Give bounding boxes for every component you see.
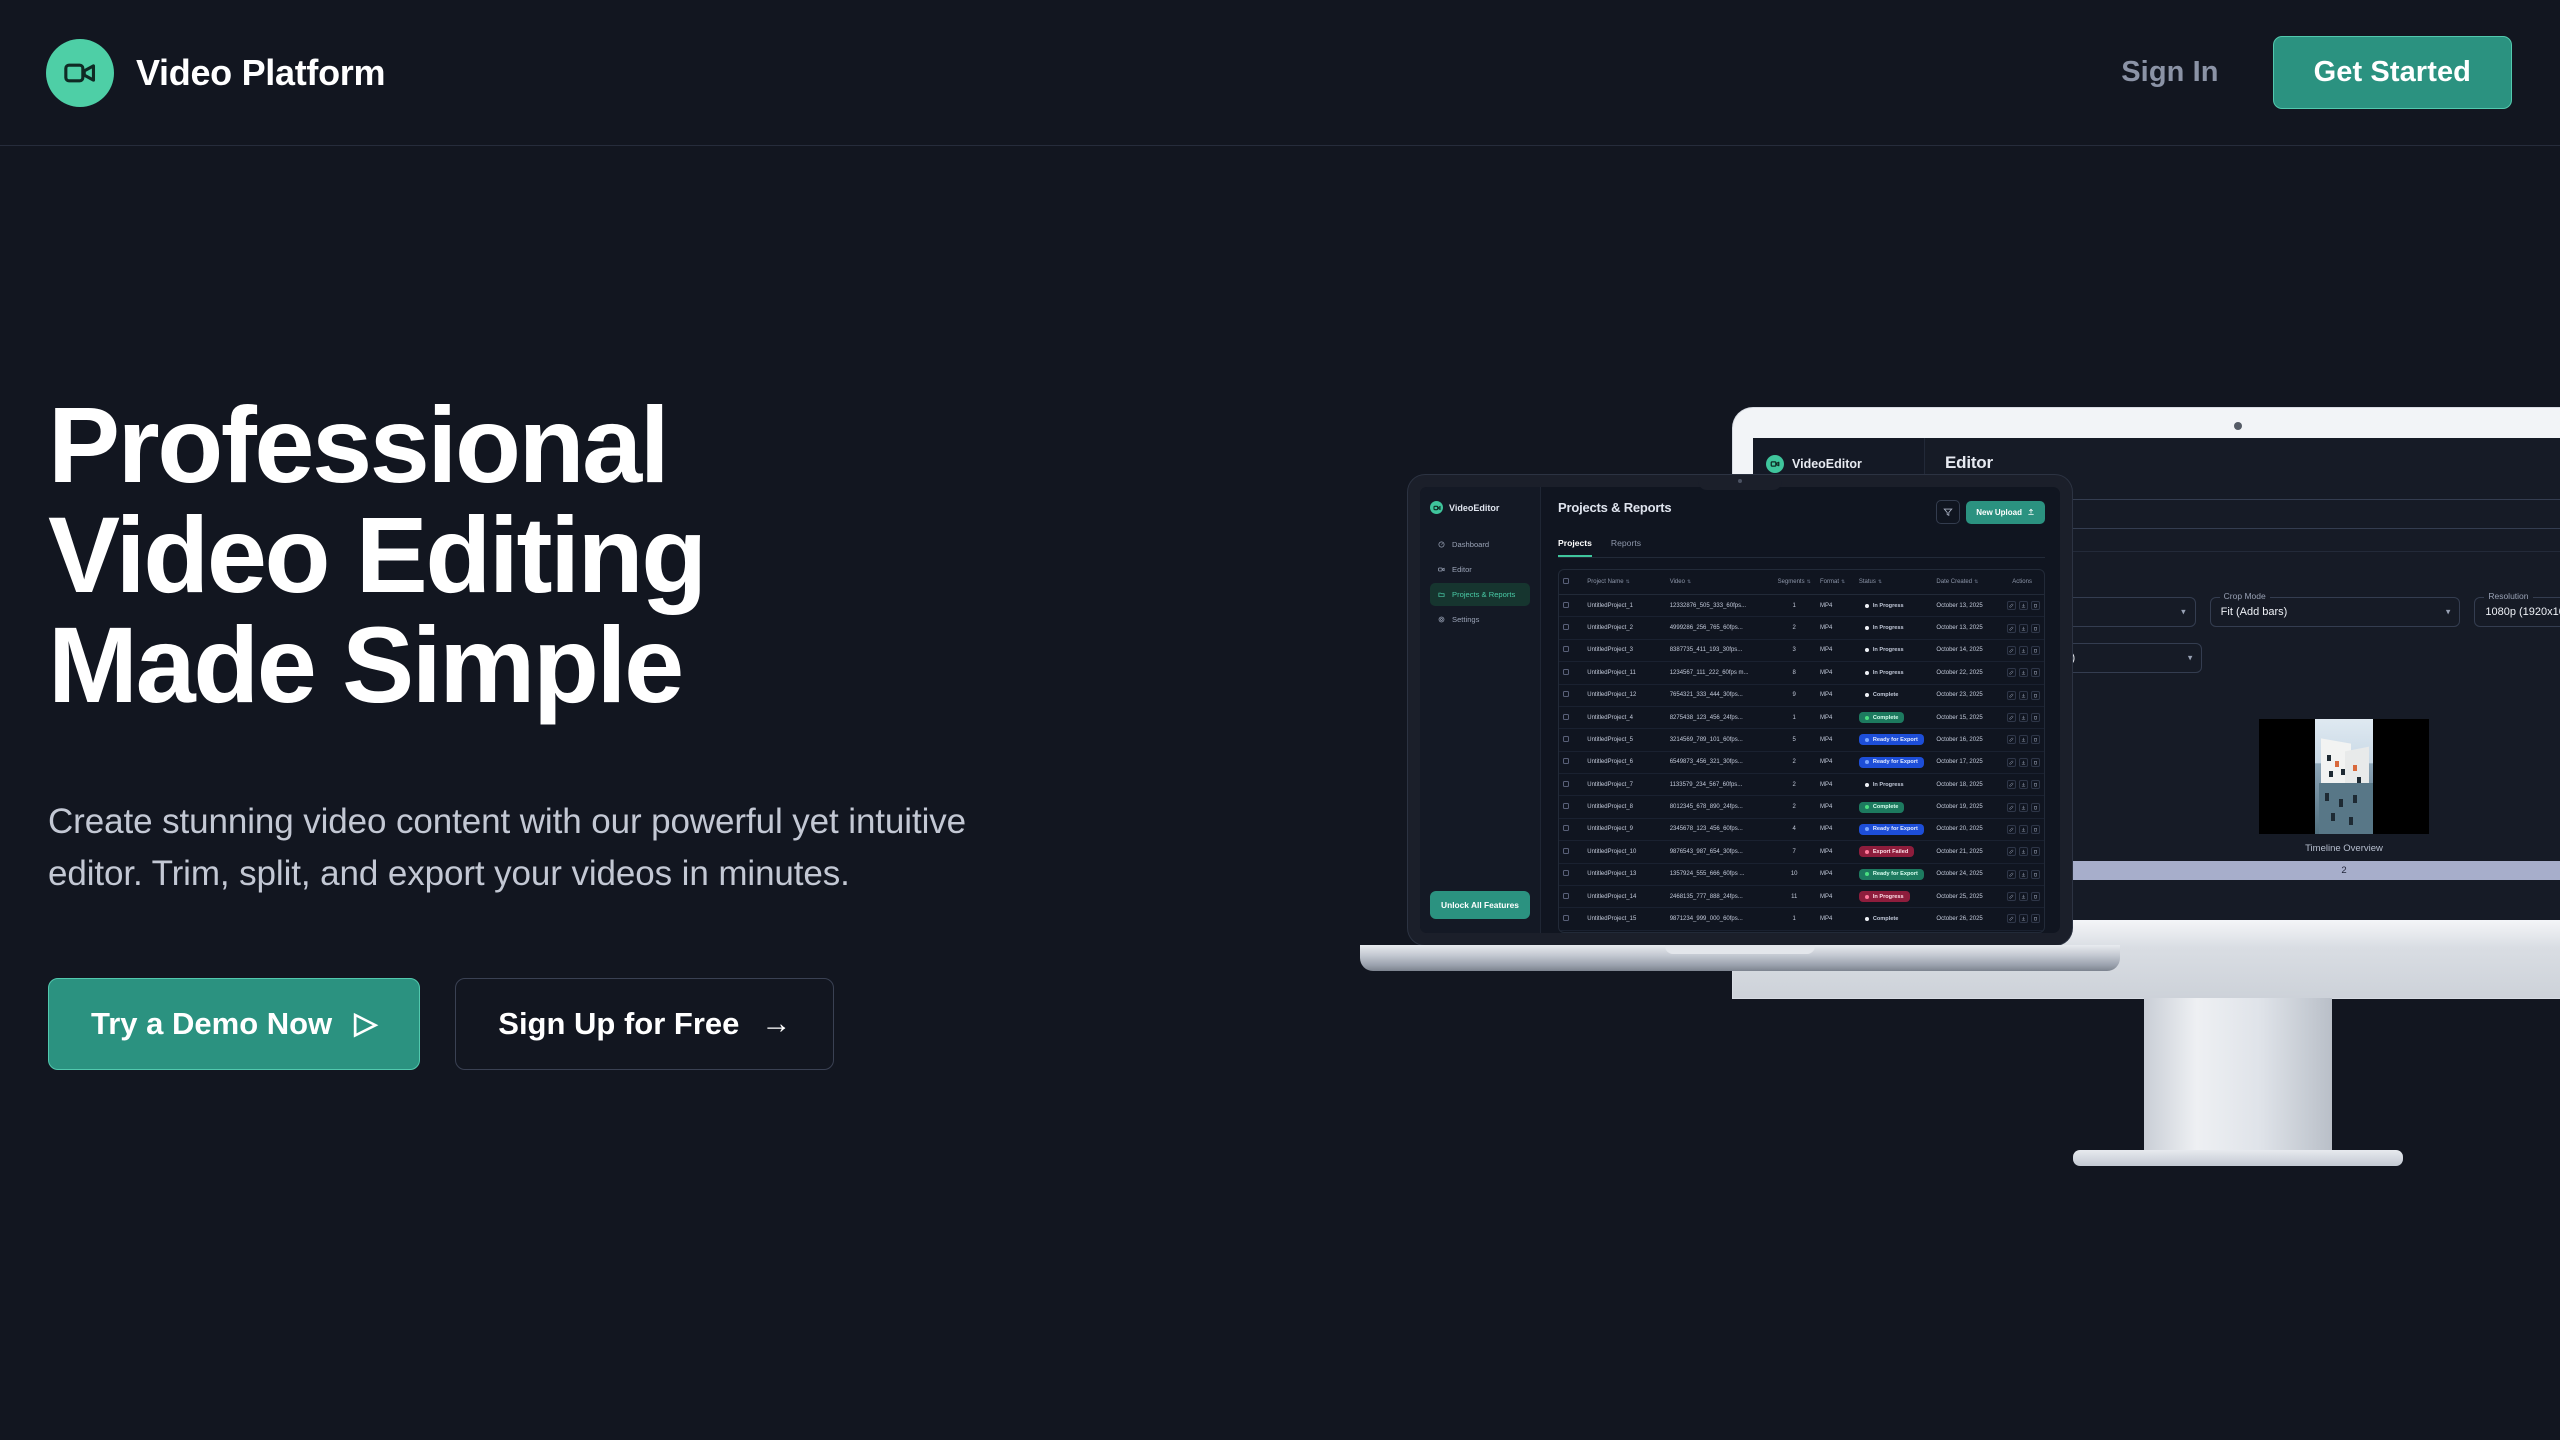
cell-segments: 2 [1772, 796, 1816, 818]
cell-video: 2345678_123_456_60fps... [1666, 818, 1773, 840]
status-dot-icon [1865, 760, 1869, 764]
sort-icon: ⇅ [1974, 579, 1978, 585]
cell-video: 4999286_256_765_60fps... [1666, 617, 1773, 639]
sort-icon: ⇅ [1807, 579, 1811, 585]
cell-status: Ready for Export [1855, 818, 1933, 840]
cell-segments: 10 [1772, 863, 1816, 885]
download-icon[interactable] [2019, 713, 2028, 722]
table-row[interactable]: UntitledProject_38387735_411_193_30fps..… [1559, 639, 2044, 661]
cell-format: MP4 [1816, 841, 1855, 863]
checkbox-icon[interactable] [1563, 578, 1569, 584]
cell-status: In Progress [1855, 639, 1933, 661]
row-checkbox[interactable] [1559, 841, 1583, 863]
delete-icon[interactable] [2031, 624, 2040, 633]
table-row[interactable]: UntitledProject_111234567_111_222_60fps … [1559, 662, 2044, 684]
cell-video: 8012345_678_890_24fps... [1666, 796, 1773, 818]
row-checkbox[interactable] [1559, 662, 1583, 684]
status-dot-icon [1865, 716, 1869, 720]
sidebar-item-dashboard[interactable]: Dashboard [1430, 533, 1530, 556]
delete-icon[interactable] [2031, 713, 2040, 722]
checkbox-icon[interactable] [1563, 781, 1569, 787]
cell-format: MP4 [1816, 617, 1855, 639]
status-dot-icon [1865, 693, 1869, 697]
table-row[interactable]: UntitledProject_24999286_256_765_60fps..… [1559, 617, 2044, 639]
edit-icon[interactable] [2007, 892, 2016, 901]
projects-sidebar: VideoEditor Dashboard Editor [1420, 487, 1541, 933]
gauge-icon [1438, 541, 1445, 548]
table-row[interactable]: UntitledProject_92345678_123_456_60fps..… [1559, 818, 2044, 840]
checkbox-icon[interactable] [1563, 691, 1569, 697]
chevron-down-icon: ▾ [2188, 653, 2193, 664]
delete-icon[interactable] [2031, 758, 2040, 767]
status-badge: In Progress [1859, 779, 1910, 790]
cell-video: 1357924_555_666_60fps ... [1666, 863, 1773, 885]
edit-icon[interactable] [2007, 758, 2016, 767]
table-row[interactable]: UntitledProject_88012345_678_890_24fps..… [1559, 796, 2044, 818]
sidebar-item-editor[interactable]: Editor [1430, 558, 1530, 581]
cell-status: Complete [1855, 796, 1933, 818]
cell-format: MP4 [1816, 930, 1855, 933]
projects-main: Projects & Reports New Upload [1541, 487, 2060, 933]
cell-status: In Progress [1855, 662, 1933, 684]
editor-brand-name: VideoEditor [1792, 457, 1862, 471]
funnel-icon[interactable] [1936, 500, 1960, 524]
cell-date-created: October 14, 2025 [1932, 639, 2000, 661]
table-row[interactable]: UntitledProject_71133579_234_567_60fps..… [1559, 774, 2044, 796]
row-checkbox[interactable] [1559, 595, 1583, 617]
cell-segments: 1 [1772, 908, 1816, 930]
status-dot-icon [1865, 872, 1869, 876]
header-actions: Sign In Get Started [2121, 36, 2512, 109]
cell-date-created: October 24, 2025 [1932, 863, 2000, 885]
status-label: In Progress [1873, 625, 1904, 631]
cell-video: 7654321_333_444_30fps... [1666, 684, 1773, 706]
row-checkbox[interactable] [1559, 639, 1583, 661]
video-camera-icon [1766, 455, 1784, 473]
video-camera-icon [46, 39, 114, 107]
delete-icon[interactable] [2031, 870, 2040, 879]
status-badge: Complete [1859, 690, 1905, 701]
status-label: Ready for Export [1873, 759, 1918, 765]
delete-icon[interactable] [2031, 914, 2040, 923]
projects-brand-name: VideoEditor [1449, 503, 1499, 513]
download-icon[interactable] [2019, 892, 2028, 901]
cell-date-created: October 19, 2025 [1932, 796, 2000, 818]
chevron-down-icon: ▾ [2181, 607, 2186, 618]
laptop-base-notch [1665, 945, 1815, 954]
projects-brand: VideoEditor [1430, 501, 1530, 514]
cell-actions [2000, 751, 2044, 773]
status-badge: Complete [1859, 712, 1905, 723]
cell-format: MP4 [1816, 863, 1855, 885]
status-dot-icon [1865, 827, 1869, 831]
new-upload-button[interactable]: New Upload [1966, 501, 2045, 524]
brand-name: Video Platform [136, 52, 385, 94]
status-badge: Export Failed [1859, 846, 1914, 857]
table-row[interactable]: UntitledProject_127654321_333_444_30fps.… [1559, 684, 2044, 706]
hero-subtitle-line-2: editor. Trim, split, and export your vid… [48, 848, 1068, 900]
edit-icon[interactable] [2007, 735, 2016, 744]
cell-project-name: UntitledProject_7 [1583, 774, 1665, 796]
cell-video: 1133579_234_567_60fps... [1666, 774, 1773, 796]
cell-segments: 3 [1772, 639, 1816, 661]
cell-segments: 1 [1772, 706, 1816, 728]
checkbox-icon[interactable] [1563, 646, 1569, 652]
cell-format: MP4 [1816, 595, 1855, 617]
brand-logo[interactable]: Video Platform [46, 39, 385, 107]
checkbox-icon[interactable] [1563, 915, 1569, 921]
download-icon[interactable] [2019, 758, 2028, 767]
edit-icon[interactable] [2007, 646, 2016, 655]
video-player[interactable] [2259, 719, 2429, 834]
laptop-screen: VideoEditor Dashboard Editor [1420, 487, 2060, 933]
status-dot-icon [1865, 805, 1869, 809]
table-row[interactable]: UntitledProject_159871234_999_000_60fps.… [1559, 908, 2044, 930]
cell-date-created: October 17, 2025 [1932, 751, 2000, 773]
cell-actions [2000, 595, 2044, 617]
checkbox-icon[interactable] [1563, 736, 1569, 742]
cell-actions [2000, 774, 2044, 796]
column-project-name[interactable]: Project Name⇅ [1583, 570, 1665, 595]
webcam-icon [1738, 479, 1742, 483]
cell-date-created: October 27, 2025 [1932, 930, 2000, 933]
status-label: In Progress [1873, 894, 1904, 900]
status-label: Export Failed [1873, 849, 1908, 855]
projects-top-buttons: New Upload [1936, 500, 2045, 524]
monitor-stand-neck [2144, 998, 2332, 1158]
hero-cta-group: Try a Demo Now ▷ Sign Up for Free → [48, 978, 1068, 1070]
video-thumbnail [2315, 719, 2373, 834]
download-icon[interactable] [2019, 803, 2028, 812]
cell-segments: 11 [1772, 885, 1816, 907]
status-badge: Ready for Export [1859, 824, 1924, 835]
cell-date-created: October 26, 2025 [1932, 908, 2000, 930]
table-header-row: Project Name⇅ Video⇅ Segments⇅ Format⇅ S… [1559, 570, 2044, 595]
cell-date-created: October 18, 2025 [1932, 774, 2000, 796]
resolution-select[interactable]: Resolution 1080p (1920x1080) ▾ [2474, 597, 2560, 627]
cell-video: 1234567_111_222_60fps m... [1666, 662, 1773, 684]
status-dot-icon [1865, 783, 1869, 787]
status-label: Complete [1873, 916, 1899, 922]
row-checkbox[interactable] [1559, 863, 1583, 885]
cell-project-name: UntitledProject_14 [1583, 885, 1665, 907]
new-upload-label: New Upload [1976, 508, 2022, 517]
hero-title-line-2: Video Editing [48, 500, 1068, 610]
projects-table: Project Name⇅ Video⇅ Segments⇅ Format⇅ S… [1558, 569, 2045, 933]
delete-icon[interactable] [2031, 691, 2040, 700]
edit-icon[interactable] [2007, 601, 2016, 610]
cell-status: Ready for Export [1855, 729, 1933, 751]
crop-mode-select[interactable]: Crop Mode Fit (Add bars) ▾ [2210, 597, 2461, 627]
cell-video: 8387735_411_193_30fps... [1666, 639, 1773, 661]
tab-projects[interactable]: Projects [1558, 538, 1592, 557]
cell-format: MP4 [1816, 662, 1855, 684]
table-row[interactable]: UntitledProject_53214569_789_101_60fps..… [1559, 729, 2044, 751]
row-checkbox[interactable] [1559, 617, 1583, 639]
status-label: Ready for Export [1873, 871, 1918, 877]
cell-format: MP4 [1816, 751, 1855, 773]
cell-status: Complete [1855, 908, 1933, 930]
status-badge: Ready for Export [1859, 757, 1924, 768]
cell-format: MP4 [1816, 774, 1855, 796]
cell-project-name: UntitledProject_15 [1583, 908, 1665, 930]
cell-project-name: UntitledProject_1 [1583, 595, 1665, 617]
edit-icon[interactable] [2007, 624, 2016, 633]
cell-segments: 4 [1772, 818, 1816, 840]
checkbox-icon[interactable] [1563, 803, 1569, 809]
cell-date-created: October 13, 2025 [1932, 617, 2000, 639]
play-icon: ▷ [354, 1009, 377, 1039]
sign-up-free-button[interactable]: Sign Up for Free → [455, 978, 834, 1070]
cell-date-created: October 25, 2025 [1932, 885, 2000, 907]
delete-icon[interactable] [2031, 892, 2040, 901]
checkbox-icon[interactable] [1563, 870, 1569, 876]
cell-video: 6549873_456_321_30fps... [1666, 751, 1773, 773]
cell-video: 9876543_987_654_30fps... [1666, 841, 1773, 863]
projects-tabs: Projects Reports [1558, 538, 2045, 558]
cell-project-name: UntitledProject_16 [1583, 930, 1665, 933]
hero-subtitle-line-1: Create stunning video content with our p… [48, 796, 1068, 848]
checkbox-icon[interactable] [1563, 669, 1569, 675]
cell-status: In Progress [1855, 774, 1933, 796]
sort-icon: ⇅ [1878, 579, 1882, 585]
cell-actions [2000, 930, 2044, 933]
hero-title-line-3: Made Simple [48, 610, 1068, 720]
download-icon[interactable] [2019, 780, 2028, 789]
cell-project-name: UntitledProject_2 [1583, 617, 1665, 639]
cell-status: Export Failed [1855, 930, 1933, 933]
hero-section: Professional Video Editing Made Simple C… [48, 390, 1068, 1070]
cell-format: MP4 [1816, 885, 1855, 907]
edit-icon[interactable] [2007, 691, 2016, 700]
row-checkbox[interactable] [1559, 751, 1583, 773]
cell-format: MP4 [1816, 908, 1855, 930]
get-started-button[interactable]: Get Started [2273, 36, 2512, 109]
download-icon[interactable] [2019, 691, 2028, 700]
table-row[interactable]: UntitledProject_48275438_123_456_24fps..… [1559, 706, 2044, 728]
cell-date-created: October 15, 2025 [1932, 706, 2000, 728]
edit-icon[interactable] [2007, 914, 2016, 923]
cell-format: MP4 [1816, 706, 1855, 728]
sidebar-item-label: Dashboard [1452, 540, 1489, 549]
checkbox-icon[interactable] [1563, 848, 1569, 854]
cell-actions [2000, 706, 2044, 728]
row-checkbox[interactable] [1559, 796, 1583, 818]
download-icon[interactable] [2019, 735, 2028, 744]
row-checkbox[interactable] [1559, 774, 1583, 796]
status-badge: In Progress [1859, 600, 1910, 611]
table-row[interactable]: UntitledProject_66549873_456_321_30fps..… [1559, 751, 2044, 773]
column-date-created[interactable]: Date Created⇅ [1932, 570, 2000, 595]
row-checkbox[interactable] [1559, 729, 1583, 751]
cell-project-name: UntitledProject_6 [1583, 751, 1665, 773]
cell-video: 1239876_123_456_30fps... [1666, 930, 1773, 933]
download-icon[interactable] [2019, 825, 2028, 834]
edit-icon[interactable] [2007, 668, 2016, 677]
table-body: UntitledProject_112332876_505_333_60fps.… [1559, 595, 2044, 934]
hero-subtitle: Create stunning video content with our p… [48, 796, 1068, 900]
row-checkbox[interactable] [1559, 930, 1583, 933]
arrow-right-icon: → [761, 1009, 791, 1039]
site-header: Video Platform Sign In Get Started [0, 0, 2560, 146]
status-badge: In Progress [1859, 891, 1910, 902]
row-checkbox[interactable] [1559, 908, 1583, 930]
checkbox-icon[interactable] [1563, 893, 1569, 899]
status-badge: In Progress [1859, 645, 1910, 656]
status-dot-icon [1865, 738, 1869, 742]
cell-actions [2000, 796, 2044, 818]
delete-icon[interactable] [2031, 803, 2040, 812]
status-label: In Progress [1873, 603, 1904, 609]
resolution-value: 1080p (1920x1080) [2485, 606, 2560, 618]
chevron-down-icon: ▾ [2446, 607, 2451, 618]
status-label: Ready for Export [1873, 737, 1918, 743]
cell-actions [2000, 662, 2044, 684]
column-video[interactable]: Video⇅ [1666, 570, 1773, 595]
status-dot-icon [1865, 917, 1869, 921]
cell-date-created: October 23, 2025 [1932, 684, 2000, 706]
sidebar-item-settings[interactable]: Settings [1430, 608, 1530, 631]
row-checkbox[interactable] [1559, 684, 1583, 706]
cell-video: 3214569_789_101_60fps... [1666, 729, 1773, 751]
editor-page-title: Editor [1945, 453, 1993, 473]
cell-status: In Progress [1855, 595, 1933, 617]
delete-icon[interactable] [2031, 601, 2040, 610]
sidebar-item-projects-reports[interactable]: Projects & Reports [1430, 583, 1530, 606]
page-title: Professional Video Editing Made Simple [48, 390, 1068, 720]
cell-segments: 2 [1772, 751, 1816, 773]
projects-nav: Dashboard Editor Projects & Reports [1430, 533, 1530, 631]
checkbox-icon[interactable] [1563, 624, 1569, 630]
projects-page-title: Projects & Reports [1558, 500, 1671, 515]
status-dot-icon [1865, 648, 1869, 652]
download-icon[interactable] [2019, 624, 2028, 633]
crop-mode-value: Fit (Add bars) [2221, 606, 2288, 618]
projects-app: VideoEditor Dashboard Editor [1420, 487, 2060, 933]
cell-format: MP4 [1816, 684, 1855, 706]
cell-video: 9871234_999_000_60fps... [1666, 908, 1773, 930]
edit-icon[interactable] [2007, 803, 2016, 812]
edit-icon[interactable] [2007, 780, 2016, 789]
status-dot-icon [1865, 604, 1869, 608]
delete-icon[interactable] [2031, 847, 2040, 856]
row-checkbox[interactable] [1559, 706, 1583, 728]
cell-segments: 8 [1772, 662, 1816, 684]
try-demo-button[interactable]: Try a Demo Now ▷ [48, 978, 420, 1070]
checkbox-icon[interactable] [1563, 714, 1569, 720]
cell-format: MP4 [1816, 729, 1855, 751]
device-mockups: VideoEditor Dashboard Editor [1360, 400, 2560, 1220]
edit-icon[interactable] [2007, 713, 2016, 722]
sort-icon: ⇅ [1626, 579, 1630, 585]
upload-icon [2027, 508, 2035, 516]
status-label: Complete [1873, 692, 1899, 698]
cell-actions [2000, 818, 2044, 840]
table-row[interactable]: UntitledProject_142468135_777_888_24fps.… [1559, 885, 2044, 907]
cell-format: MP4 [1816, 639, 1855, 661]
delete-icon[interactable] [2031, 646, 2040, 655]
download-icon[interactable] [2019, 646, 2028, 655]
cell-date-created: October 21, 2025 [1932, 841, 2000, 863]
download-icon[interactable] [2019, 847, 2028, 856]
column-status[interactable]: Status⇅ [1855, 570, 1933, 595]
status-dot-icon [1865, 850, 1869, 854]
delete-icon[interactable] [2031, 735, 2040, 744]
cell-project-name: UntitledProject_9 [1583, 818, 1665, 840]
edit-icon[interactable] [2007, 825, 2016, 834]
edit-icon[interactable] [2007, 847, 2016, 856]
folder-icon [1438, 591, 1445, 598]
delete-icon[interactable] [2031, 825, 2040, 834]
cell-actions [2000, 617, 2044, 639]
checkbox-icon[interactable] [1563, 602, 1569, 608]
status-badge: Ready for Export [1859, 734, 1924, 745]
download-icon[interactable] [2019, 914, 2028, 923]
cell-actions [2000, 639, 2044, 661]
table-row[interactable]: UntitledProject_112332876_505_333_60fps.… [1559, 595, 2044, 617]
sort-icon: ⇅ [1841, 579, 1845, 585]
cell-video: 2468135_777_888_24fps... [1666, 885, 1773, 907]
cell-actions [2000, 863, 2044, 885]
delete-icon[interactable] [2031, 668, 2040, 677]
cell-segments: 2 [1772, 774, 1816, 796]
sign-in-link[interactable]: Sign In [2121, 56, 2218, 89]
tab-reports[interactable]: Reports [1611, 538, 1641, 557]
cell-status: Ready for Export [1855, 863, 1933, 885]
status-label: Complete [1873, 715, 1899, 721]
cell-project-name: UntitledProject_10 [1583, 841, 1665, 863]
checkbox-icon[interactable] [1563, 758, 1569, 764]
column-format[interactable]: Format⇅ [1816, 570, 1855, 595]
cell-date-created: October 22, 2025 [1932, 662, 2000, 684]
video-camera-icon [1438, 566, 1445, 573]
status-dot-icon [1865, 671, 1869, 675]
row-checkbox[interactable] [1559, 818, 1583, 840]
cell-project-name: UntitledProject_13 [1583, 863, 1665, 885]
cell-project-name: UntitledProject_5 [1583, 729, 1665, 751]
checkbox-icon[interactable] [1563, 825, 1569, 831]
table-row[interactable]: UntitledProject_131357924_555_666_60fps … [1559, 863, 2044, 885]
row-checkbox[interactable] [1559, 885, 1583, 907]
cell-status: In Progress [1855, 885, 1933, 907]
status-label: In Progress [1873, 647, 1904, 653]
editor-brand: VideoEditor [1766, 455, 1911, 473]
cell-actions [2000, 908, 2044, 930]
cell-actions [2000, 684, 2044, 706]
cell-segments: 1 [1772, 595, 1816, 617]
download-icon[interactable] [2019, 870, 2028, 879]
hero-title-line-1: Professional [48, 390, 1068, 500]
table-row[interactable]: UntitledProject_109876543_987_654_30fps.… [1559, 841, 2044, 863]
select-all-checkbox-header[interactable] [1559, 570, 1583, 595]
cell-status: Complete [1855, 706, 1933, 728]
status-dot-icon [1865, 895, 1869, 899]
unlock-all-features-button[interactable]: Unlock All Features [1430, 891, 1530, 919]
status-label: In Progress [1873, 670, 1904, 676]
column-segments[interactable]: Segments⇅ [1772, 570, 1816, 595]
download-icon[interactable] [2019, 668, 2028, 677]
cell-project-name: UntitledProject_4 [1583, 706, 1665, 728]
table-row[interactable]: UntitledProject_161239876_123_456_30fps.… [1559, 930, 2044, 933]
edit-icon[interactable] [2007, 870, 2016, 879]
cell-actions [2000, 841, 2044, 863]
download-icon[interactable] [2019, 601, 2028, 610]
cell-date-created: October 13, 2025 [1932, 595, 2000, 617]
cell-status: Ready for Export [1855, 751, 1933, 773]
delete-icon[interactable] [2031, 780, 2040, 789]
sidebar-item-label: Editor [1452, 565, 1472, 574]
gear-icon [1438, 616, 1445, 623]
